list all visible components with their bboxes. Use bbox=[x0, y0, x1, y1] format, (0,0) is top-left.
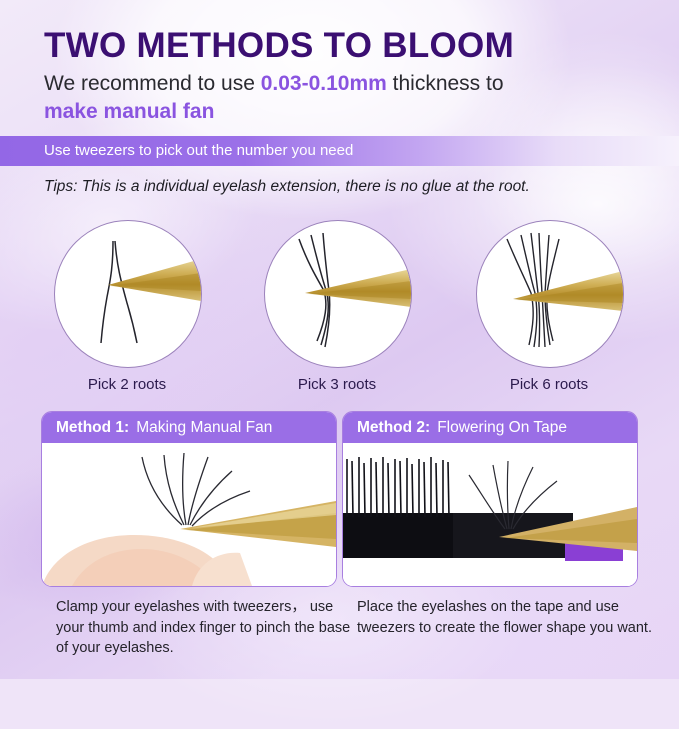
method-2-header: Method 2: Flowering On Tape bbox=[343, 412, 637, 443]
method-2-description: Place the eyelashes on the tape and use … bbox=[357, 597, 657, 638]
steps-row bbox=[0, 220, 679, 370]
step-label-pick-6: Pick 6 roots bbox=[476, 376, 622, 393]
method-2-panel: Method 2: Flowering On Tape bbox=[342, 411, 638, 587]
step-circle-pick-3 bbox=[264, 220, 412, 368]
poster-background: TWO METHODS TO BLOOM We recommend to use… bbox=[0, 0, 679, 679]
subtitle: We recommend to use 0.03-0.10mm thicknes… bbox=[44, 70, 644, 126]
tips-text: Tips: This is a individual eyelash exten… bbox=[44, 178, 530, 196]
page-title: TWO METHODS TO BLOOM bbox=[44, 26, 514, 66]
method-1-label: Method 1: bbox=[56, 419, 129, 437]
subtitle-text-after: thickness to bbox=[387, 72, 504, 95]
instruction-band-text: Use tweezers to pick out the number you … bbox=[44, 142, 353, 159]
method-1-panel: Method 1: Making Manual Fan bbox=[41, 411, 337, 587]
subtitle-line-two: make manual fan bbox=[44, 98, 644, 126]
method-2-label: Method 2: bbox=[357, 419, 430, 437]
method-2-title: Flowering On Tape bbox=[437, 419, 567, 437]
method-1-title: Making Manual Fan bbox=[136, 419, 272, 437]
subtitle-thickness-value: 0.03-0.10mm bbox=[261, 72, 387, 95]
tweezers-six-lashes-icon bbox=[477, 221, 623, 367]
method-1-description: Clamp your eyelashes with tweezers， use … bbox=[56, 597, 356, 659]
lash-strip-on-tape-with-tweezers-photo bbox=[343, 443, 637, 586]
tweezers-three-lashes-icon bbox=[265, 221, 411, 367]
method-1-photo bbox=[42, 443, 336, 586]
step-captions: Pick 2 roots Pick 3 roots Pick 6 roots bbox=[0, 376, 679, 396]
method-2-photo bbox=[343, 443, 637, 586]
step-circle-pick-6 bbox=[476, 220, 624, 368]
step-label-pick-2: Pick 2 roots bbox=[54, 376, 200, 393]
tweezers-two-lashes-icon bbox=[55, 221, 201, 367]
method-1-header: Method 1: Making Manual Fan bbox=[42, 412, 336, 443]
hand-pinching-lash-fan-with-tweezers-photo bbox=[42, 443, 336, 586]
step-circle-pick-2 bbox=[54, 220, 202, 368]
subtitle-text-before: We recommend to use bbox=[44, 72, 261, 95]
step-label-pick-3: Pick 3 roots bbox=[264, 376, 410, 393]
